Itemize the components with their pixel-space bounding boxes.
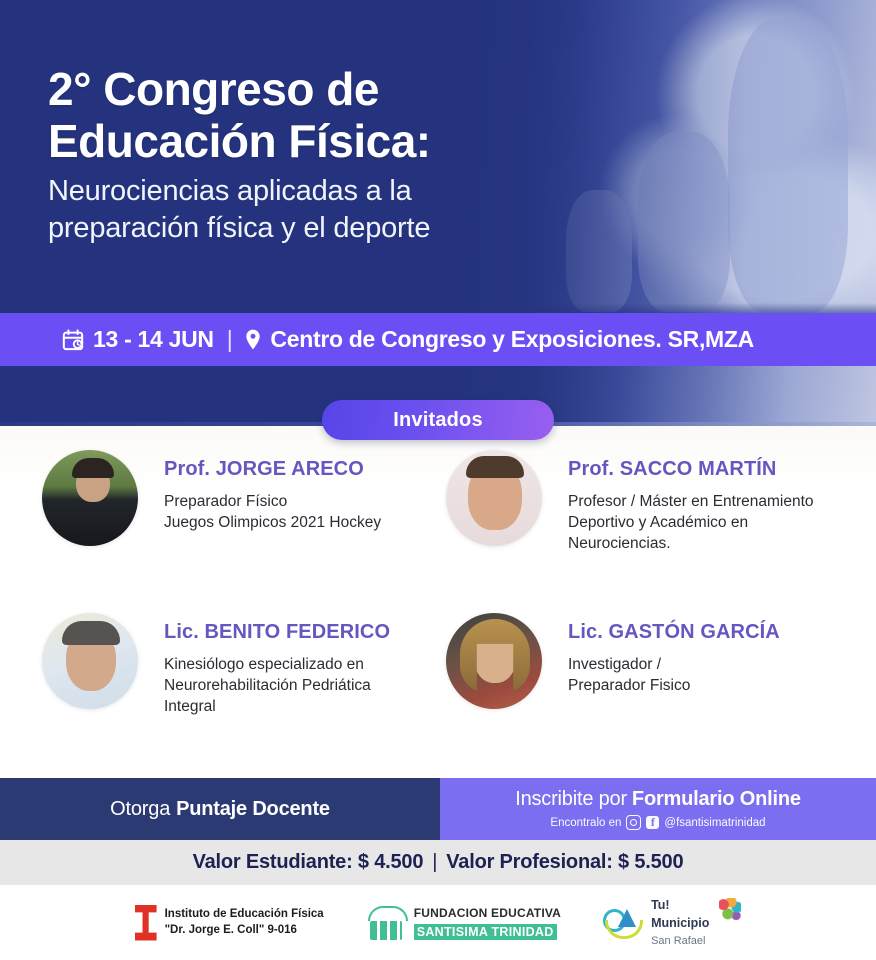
logo-instituto-line1: Instituto de Educación Física	[165, 908, 324, 920]
speaker-name: Prof. JORGE ARECO	[164, 458, 381, 481]
speaker-name: Lic. GASTÓN GARCÍA	[568, 621, 780, 644]
social-handle[interactable]: @fsantisimatrinidad	[664, 817, 765, 829]
hero-title-line2: Educación Física:	[48, 114, 608, 168]
municipio-mark-icon	[603, 906, 643, 940]
social-line: Encontralo en @fsantisimatrinidad	[550, 815, 765, 830]
avatar	[446, 613, 542, 709]
hero-bottom-fade	[0, 303, 876, 313]
logo-municipio-line3: San Rafael	[651, 935, 705, 947]
logo-instituto-text: Instituto de Educación Física"Dr. Jorge …	[165, 907, 324, 938]
price-separator: |	[423, 851, 446, 874]
date-venue-separator: |	[223, 326, 237, 353]
event-date: 13 - 14 JUN	[93, 326, 214, 353]
speaker-name: Prof. SACCO MARTÍN	[568, 458, 814, 481]
logo-fundacion-line2: SANTISIMA TRINIDAD	[414, 924, 557, 940]
hero-text-block: 2° Congreso de Educación Física: Neuroci…	[48, 62, 608, 248]
puntaje-docente-bar: Otorga Puntaje Docente	[0, 778, 440, 840]
logo-instituto-line2: "Dr. Jorge E. Coll" 9-016	[165, 924, 297, 936]
logo-municipio-line1: Tu!	[651, 898, 670, 912]
instagram-icon[interactable]	[626, 815, 641, 830]
puntaje-docente-bold: Puntaje Docente	[176, 798, 330, 821]
inscripcion-bar[interactable]: Inscribite porFormulario Online Encontra…	[440, 778, 876, 840]
hero-subtitle-line2: preparación física y el deporte	[48, 210, 608, 248]
invitados-badge-label: Invitados	[393, 409, 483, 432]
hero-banner: 2° Congreso de Educación Física: Neuroci…	[0, 0, 876, 313]
invitados-badge: Invitados	[322, 400, 554, 440]
facebook-icon[interactable]	[646, 816, 659, 829]
speakers-row-1: Prof. JORGE ARECO Preparador Físico Jueg…	[0, 450, 876, 555]
avatar	[42, 613, 138, 709]
logo-fundacion-santisima-trinidad: FUNDACION EDUCATIVA SANTISIMA TRINIDAD	[366, 904, 561, 941]
speaker-text: Prof. SACCO MARTÍN Profesor / Máster en …	[568, 450, 814, 555]
avatar	[42, 450, 138, 546]
hero-title-line1: 2° Congreso de	[48, 62, 608, 116]
speaker-role: Preparador Físico Juegos Olimpicos 2021 …	[164, 492, 381, 534]
logo-municipio-line2: Municipio	[651, 916, 709, 930]
inscripcion-prefix: Inscribite por	[515, 788, 627, 810]
cta-bars: Otorga Puntaje Docente Inscribite porFor…	[0, 778, 876, 840]
price-professional: Valor Profesional: $ 5.500	[446, 851, 683, 874]
date-venue-inner: 13 - 14 JUN | Centro de Congreso y Expos…	[62, 326, 754, 353]
logo-municipio-san-rafael: Tu! Municipio San Rafael	[603, 896, 741, 950]
inscripcion-bold: Formulario Online	[632, 788, 801, 810]
speaker-role: Kinesiólogo especializado en Neurorehabi…	[164, 655, 390, 718]
date-venue-bar: 13 - 14 JUN | Centro de Congreso y Expos…	[0, 313, 876, 366]
calendar-icon	[62, 329, 84, 351]
institute-i-mark-icon	[135, 905, 157, 941]
hero-figure-coach	[728, 18, 848, 313]
logo-fundacion-text: FUNDACION EDUCATIVA SANTISIMA TRINIDAD	[414, 904, 561, 941]
puntaje-docente-prefix: Otorga	[110, 798, 170, 821]
avatar	[446, 450, 542, 546]
inscripcion-headline: Inscribite porFormulario Online	[515, 788, 801, 811]
social-prefix: Encontralo en	[550, 817, 621, 829]
event-flyer: 2° Congreso de Educación Física: Neuroci…	[0, 0, 876, 960]
footer-logos: Instituto de Educación Física"Dr. Jorge …	[0, 885, 876, 960]
price-bar: Valor Estudiante: $ 4.500 | Valor Profes…	[0, 840, 876, 885]
logo-municipio-text: Tu! Municipio San Rafael	[651, 896, 709, 950]
speaker-card: Lic. GASTÓN GARCÍA Investigador / Prepar…	[438, 613, 876, 718]
hero-figure-student	[638, 132, 730, 312]
hero-subtitle-line1: Neurociencias aplicadas a la	[48, 173, 608, 211]
speaker-card: Prof. SACCO MARTÍN Profesor / Máster en …	[438, 450, 876, 555]
event-venue: Centro de Congreso y Exposiciones. SR,MZ…	[270, 326, 754, 353]
price-student: Valor Estudiante: $ 4.500	[193, 851, 424, 874]
fundacion-building-icon	[366, 906, 406, 940]
speakers-row-2: Lic. BENITO FEDERICO Kinesiólogo especia…	[0, 613, 876, 718]
speaker-role: Profesor / Máster en Entrenamiento Depor…	[568, 492, 814, 555]
colored-hands-icon	[719, 898, 741, 920]
logo-fundacion-line1: FUNDACION EDUCATIVA	[414, 906, 561, 920]
location-pin-icon	[245, 329, 261, 350]
speaker-name: Lic. BENITO FEDERICO	[164, 621, 390, 644]
speaker-role: Investigador / Preparador Fisico	[568, 655, 780, 697]
speaker-card: Lic. BENITO FEDERICO Kinesiólogo especia…	[0, 613, 438, 718]
speaker-card: Prof. JORGE ARECO Preparador Físico Jueg…	[0, 450, 438, 555]
logo-instituto-educacion-fisica: Instituto de Educación Física"Dr. Jorge …	[135, 905, 324, 941]
speaker-text: Lic. BENITO FEDERICO Kinesiólogo especia…	[164, 613, 390, 718]
speakers-grid: Prof. JORGE ARECO Preparador Físico Jueg…	[0, 450, 876, 718]
speaker-text: Lic. GASTÓN GARCÍA Investigador / Prepar…	[568, 613, 780, 697]
speaker-text: Prof. JORGE ARECO Preparador Físico Jueg…	[164, 450, 381, 534]
